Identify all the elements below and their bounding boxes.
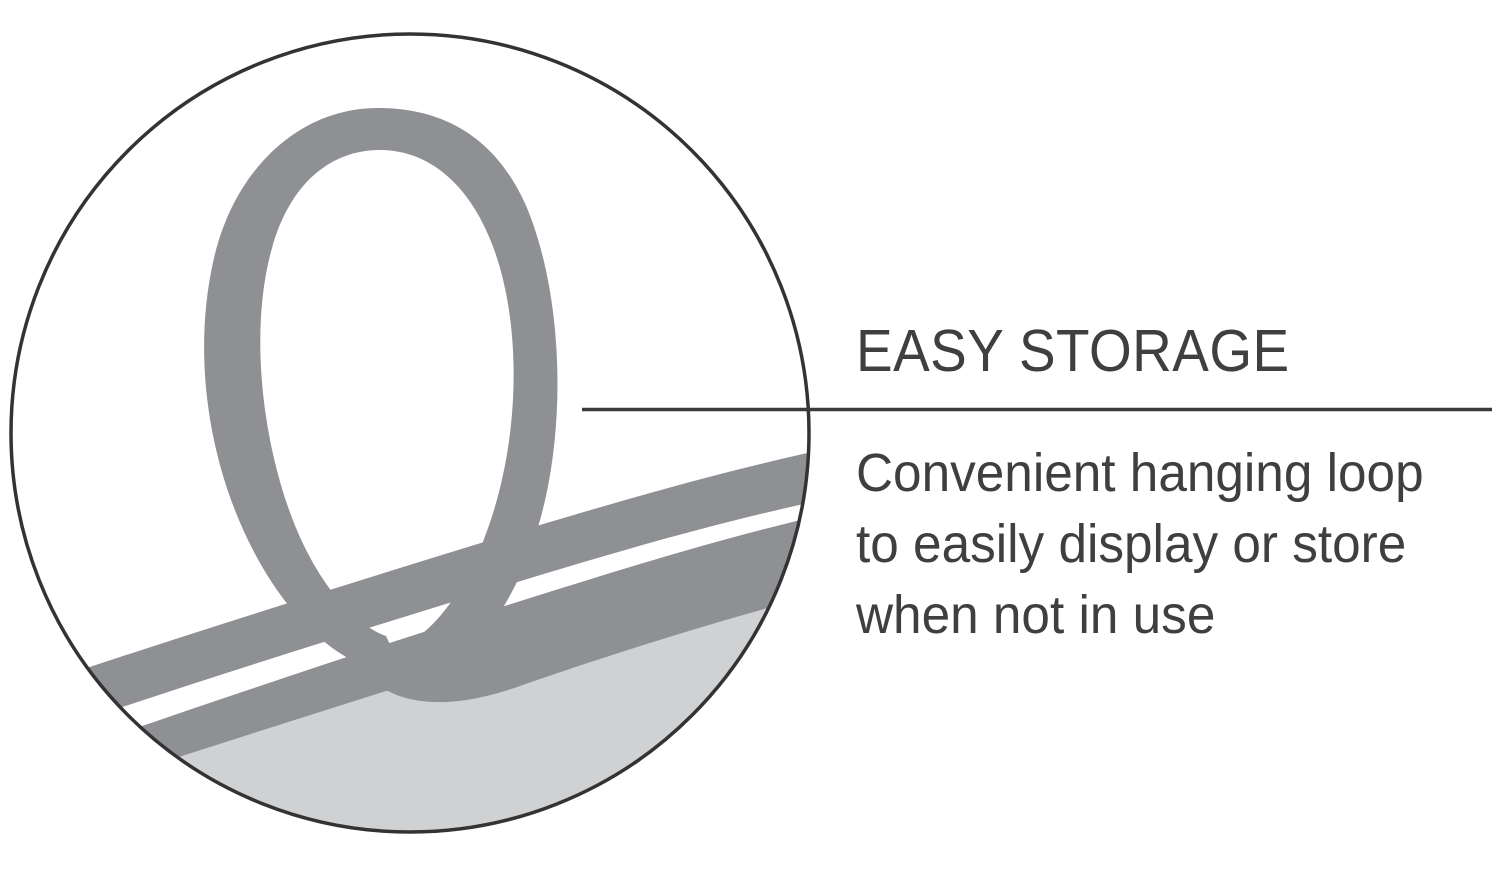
description-line-1: Convenient hanging loop [856, 438, 1464, 509]
feature-description: Convenient hanging loop to easily displa… [856, 438, 1464, 651]
page-title: EASY STORAGE [856, 318, 1451, 384]
easy-storage-illustration [0, 0, 1500, 872]
description-line-2: to easily display or store [856, 509, 1464, 580]
callout-text-block: EASY STORAGE [856, 318, 1496, 384]
description-line-3: when not in use [856, 580, 1464, 651]
feature-callout-panel: EASY STORAGE Convenient hanging loop to … [0, 0, 1500, 872]
detail-circle-group [0, 34, 900, 872]
